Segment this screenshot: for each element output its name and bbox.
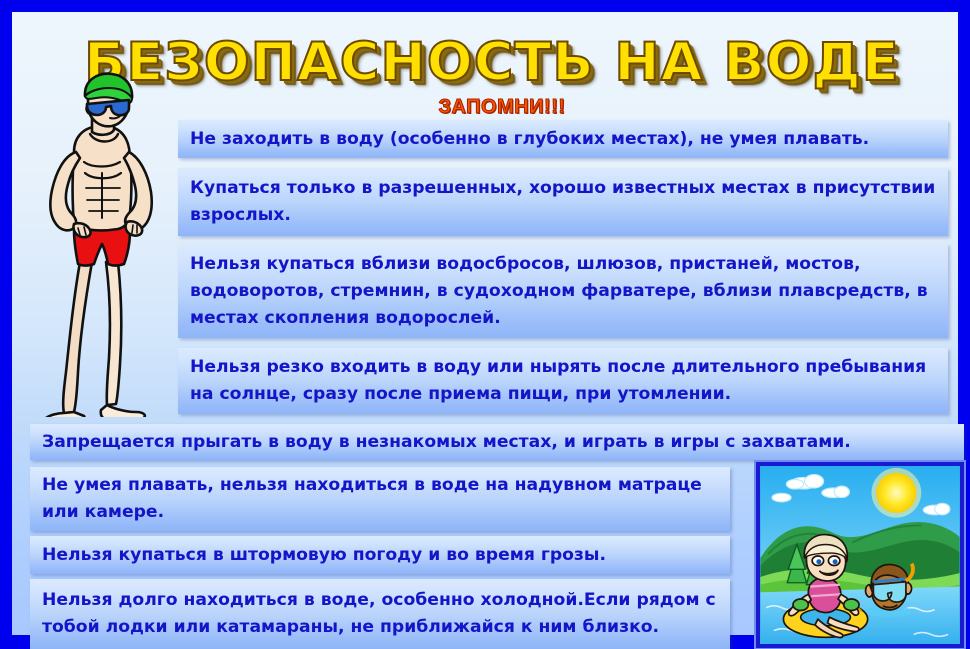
poster-subtitle: ЗАПОМНИ!!!: [342, 96, 662, 119]
rule-item-5: Запрещается прыгать в воду в незнакомых …: [30, 424, 964, 460]
poster-stage: БЕЗОПАСНОСТЬ НА ВОДЕ ЗАПОМНИ!!!: [12, 12, 958, 635]
rule-text: Не умея плавать, нельзя находиться в вод…: [42, 472, 720, 526]
page-title: БЕЗОПАСНОСТЬ НА ВОДЕ: [84, 34, 890, 92]
rule-item-1: Не заходить в воду (особенно в глубоких …: [178, 120, 948, 158]
rule-text: Запрещается прыгать в воду в незнакомых …: [42, 429, 851, 456]
rule-text: Нельзя купаться в штормовую погоду и во …: [42, 542, 606, 569]
rule-text: Купаться только в разрешенных, хорошо из…: [190, 175, 938, 229]
swimmer-illustration: [30, 72, 180, 417]
rule-item-7: Нельзя купаться в штормовую погоду и во …: [30, 536, 730, 574]
rule-item-2: Купаться только в разрешенных, хорошо из…: [178, 168, 948, 236]
rule-text: Нельзя долго находиться в воде, особенно…: [42, 587, 720, 641]
rule-item-6: Не умея плавать, нельзя находиться в вод…: [30, 467, 730, 531]
rule-item-8: Нельзя долго находиться в воде, особенно…: [30, 579, 730, 649]
rule-text: Нельзя купаться вблизи водосбросов, шлюз…: [190, 251, 938, 332]
poster-title-container: БЕЗОПАСНОСТЬ НА ВОДЕ: [92, 34, 882, 96]
rule-text: Нельзя резко входить в воду или нырять п…: [190, 354, 938, 408]
poster-root: БЕЗОПАСНОСТЬ НА ВОДЕ ЗАПОМНИ!!!: [0, 0, 970, 647]
lake-scene-illustration: [756, 462, 964, 648]
rule-item-3: Нельзя купаться вблизи водосбросов, шлюз…: [178, 244, 948, 338]
rule-item-4: Нельзя резко входить в воду или нырять п…: [178, 348, 948, 414]
rule-text: Не заходить в воду (особенно в глубоких …: [190, 126, 869, 153]
